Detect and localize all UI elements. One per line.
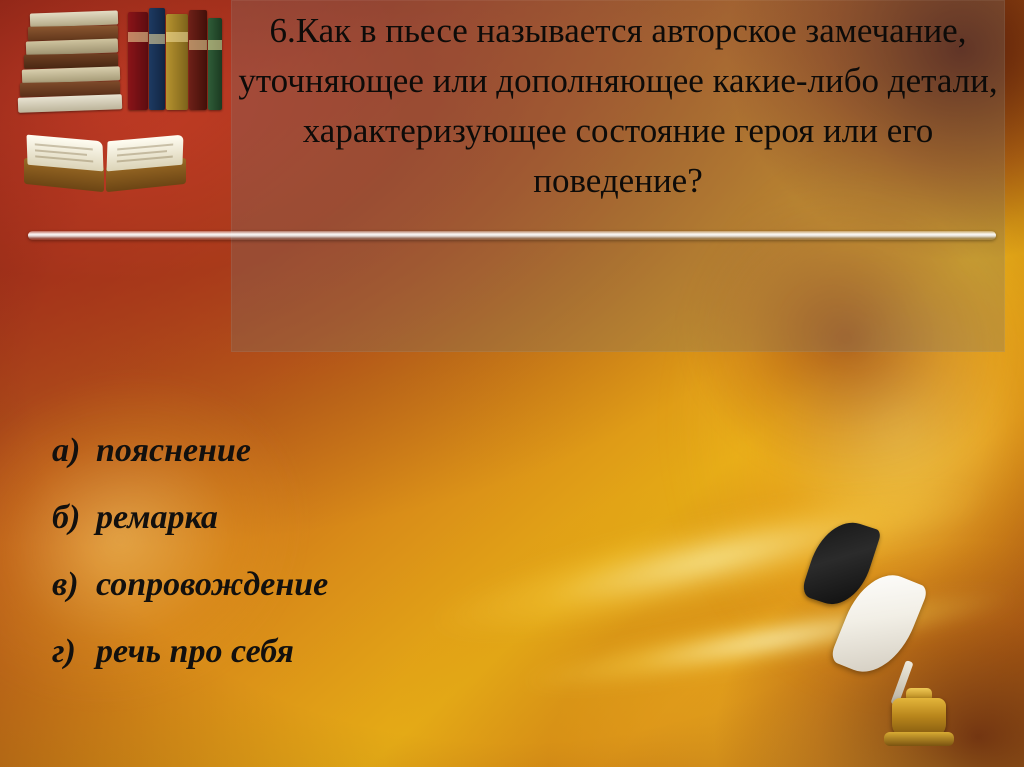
open-book-icon	[24, 132, 186, 194]
answer-marker-c: в)	[52, 566, 96, 604]
book-upright-2-icon	[149, 8, 165, 110]
answer-marker-b: б)	[52, 499, 96, 537]
answer-list: а) пояснение б) ремарка в) сопровождение…	[52, 432, 692, 700]
answer-label-a: пояснение	[96, 432, 251, 470]
answer-option-b[interactable]: б) ремарка	[52, 499, 692, 566]
answer-option-c[interactable]: в) сопровождение	[52, 566, 692, 633]
quill-pen-icon	[806, 520, 956, 750]
book-upright-5-icon	[208, 18, 222, 110]
book-upright-3-icon	[166, 14, 188, 110]
slide-canvas: 6.Как в пьесе называется авторское замеч…	[0, 0, 1024, 767]
answer-option-d[interactable]: г) речь про себя	[52, 633, 692, 700]
book-upright-4-icon	[189, 10, 207, 110]
answer-label-d: речь про себя	[96, 633, 294, 671]
answer-marker-a: а)	[52, 432, 96, 470]
question-text: 6.Как в пьесе называется авторское замеч…	[236, 6, 1000, 206]
answer-label-b: ремарка	[96, 499, 218, 537]
book-upright-1-icon	[128, 12, 148, 110]
books-clipart-icon	[10, 4, 226, 200]
inkwell-base-icon	[884, 732, 954, 746]
answer-marker-d: г)	[52, 633, 96, 671]
answer-option-a[interactable]: а) пояснение	[52, 432, 692, 499]
book-flat-1-icon	[18, 94, 122, 113]
horizontal-divider	[28, 231, 996, 240]
answer-label-c: сопровождение	[96, 566, 328, 604]
